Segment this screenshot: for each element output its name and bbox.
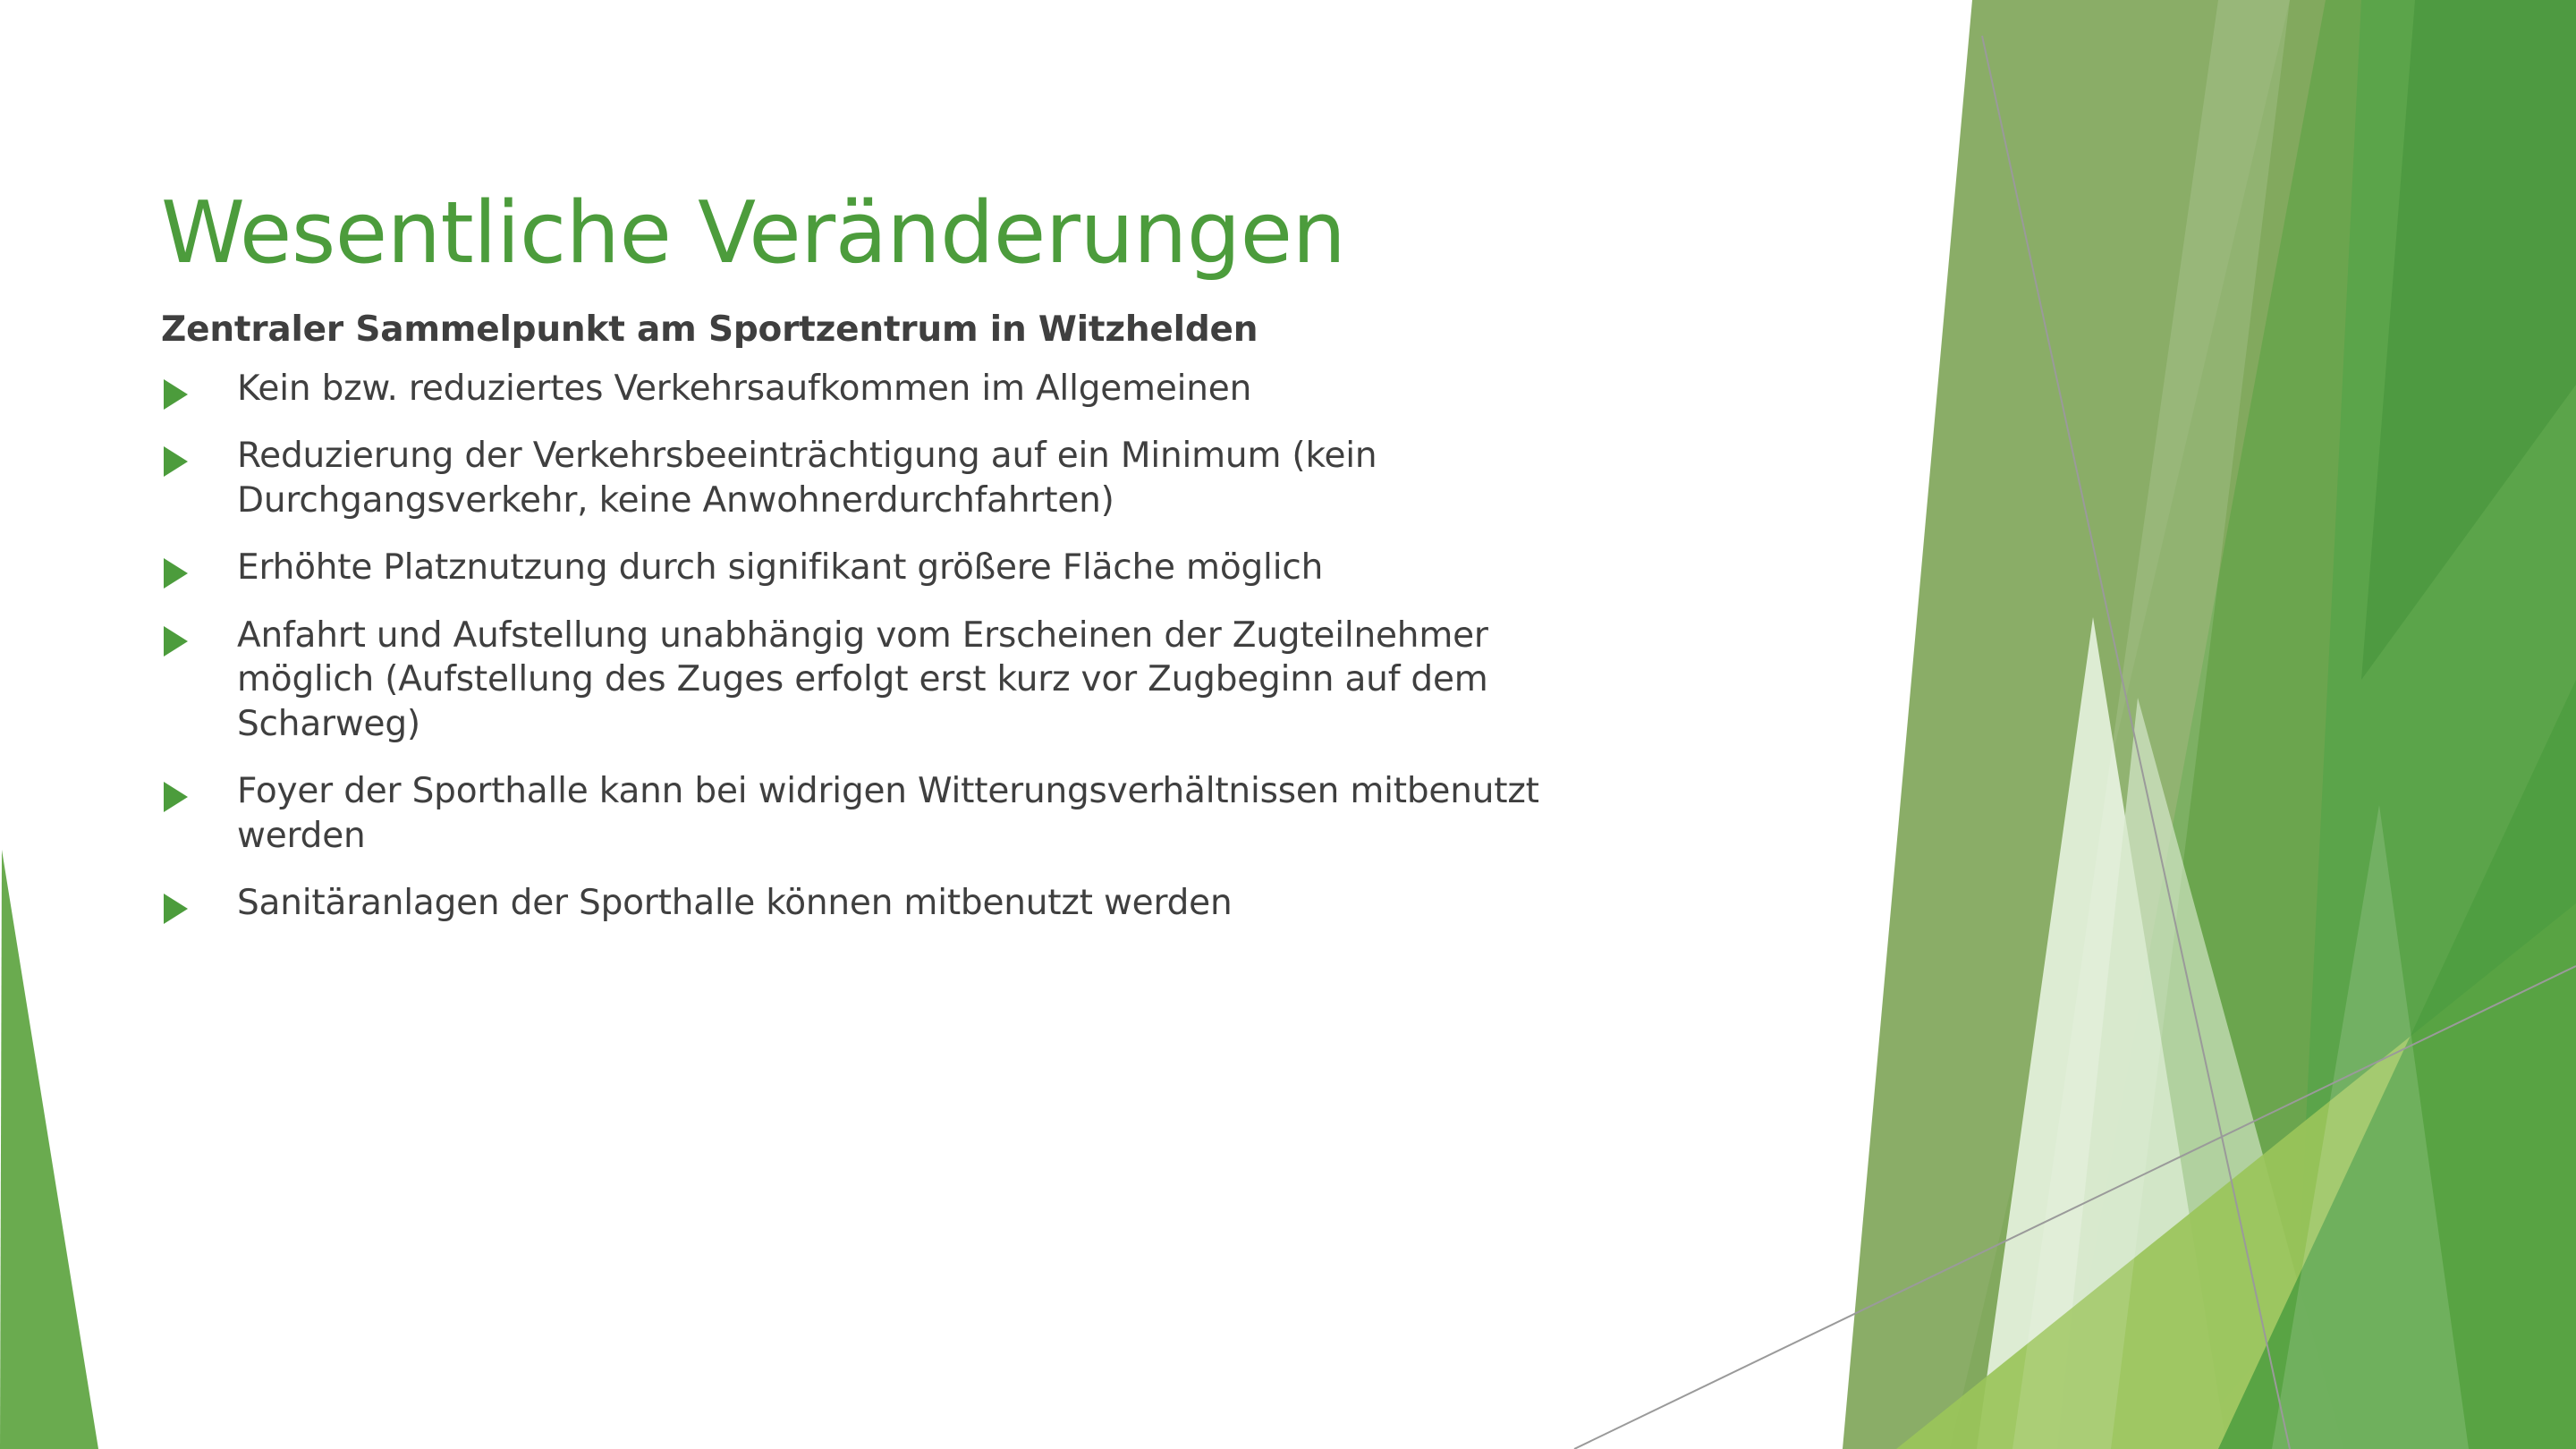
slide: Wesentliche Veränderungen Zentraler Samm… bbox=[0, 0, 2576, 1449]
body-subheading: Zentraler Sammelpunkt am Sportzentrum in… bbox=[161, 309, 1914, 352]
bullet-text: Reduzierung der Verkehrsbeeinträchtigung… bbox=[237, 434, 1914, 522]
triangle-right-icon bbox=[164, 446, 188, 477]
bullet-item: Erhöhte Platznutzung durch signifikant g… bbox=[161, 546, 1914, 590]
triangle-right-icon bbox=[164, 379, 188, 410]
hairline-diagonal-1 bbox=[1982, 36, 2290, 1449]
bullet-item: Foyer der Sporthalle kann bei widrigen W… bbox=[161, 769, 1914, 858]
bullet-item: Anfahrt und Aufstellung unabhängig vom E… bbox=[161, 614, 1914, 747]
bullet-text: Sanitäranlagen der Sporthalle können mit… bbox=[237, 881, 1914, 926]
bullet-text: Erhöhte Platznutzung durch signifikant g… bbox=[237, 546, 1914, 590]
bullet-item: Kein bzw. reduziertes Verkehrsaufkommen … bbox=[161, 367, 1914, 411]
slide-body: Zentraler Sammelpunkt am Sportzentrum in… bbox=[161, 309, 1914, 926]
bullet-list: Kein bzw. reduziertes Verkehrsaufkommen … bbox=[161, 367, 1914, 926]
bullet-item: Reduzierung der Verkehrsbeeinträchtigung… bbox=[161, 434, 1914, 522]
bullet-text: Anfahrt und Aufstellung unabhängig vom E… bbox=[237, 614, 1914, 747]
triangle-right-icon bbox=[164, 626, 188, 657]
triangle-right-icon bbox=[164, 894, 188, 924]
bullet-text: Foyer der Sporthalle kann bei widrigen W… bbox=[237, 769, 1914, 858]
triangle-right-icon bbox=[164, 558, 188, 589]
slide-title: Wesentliche Veränderungen bbox=[161, 190, 1345, 279]
bullet-item: Sanitäranlagen der Sporthalle können mit… bbox=[161, 881, 1914, 926]
slide-content: Wesentliche Veränderungen Zentraler Samm… bbox=[0, 0, 1968, 1449]
triangle-right-icon bbox=[164, 782, 188, 812]
bullet-text: Kein bzw. reduziertes Verkehrsaufkommen … bbox=[237, 367, 1914, 411]
